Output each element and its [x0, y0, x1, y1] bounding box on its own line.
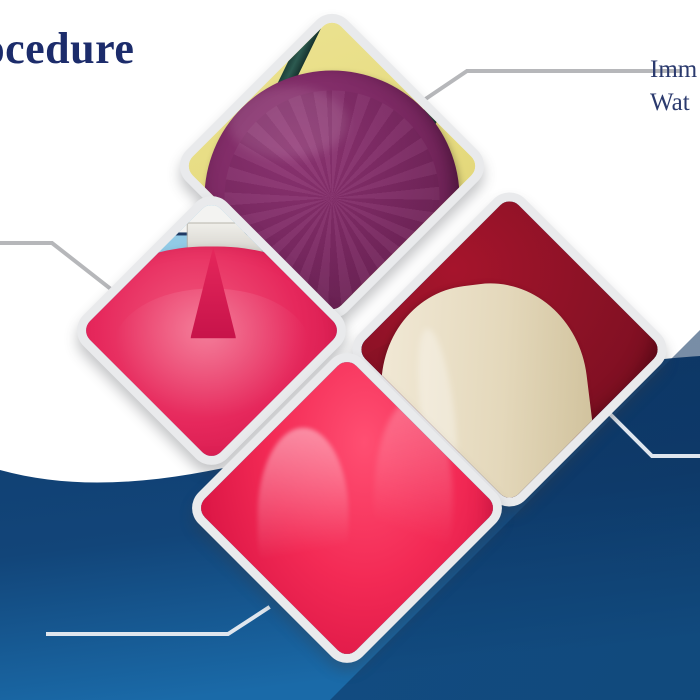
slide-canvas: Procedure Imm Wat enly Tray [0, 0, 700, 700]
callout-line-2: Wat [650, 87, 697, 120]
callout-label-top-right: Imm Wat [650, 54, 697, 119]
disc-highlight [228, 86, 348, 158]
page-title: Procedure [0, 26, 134, 72]
callout-line-1: Imm [650, 54, 697, 87]
